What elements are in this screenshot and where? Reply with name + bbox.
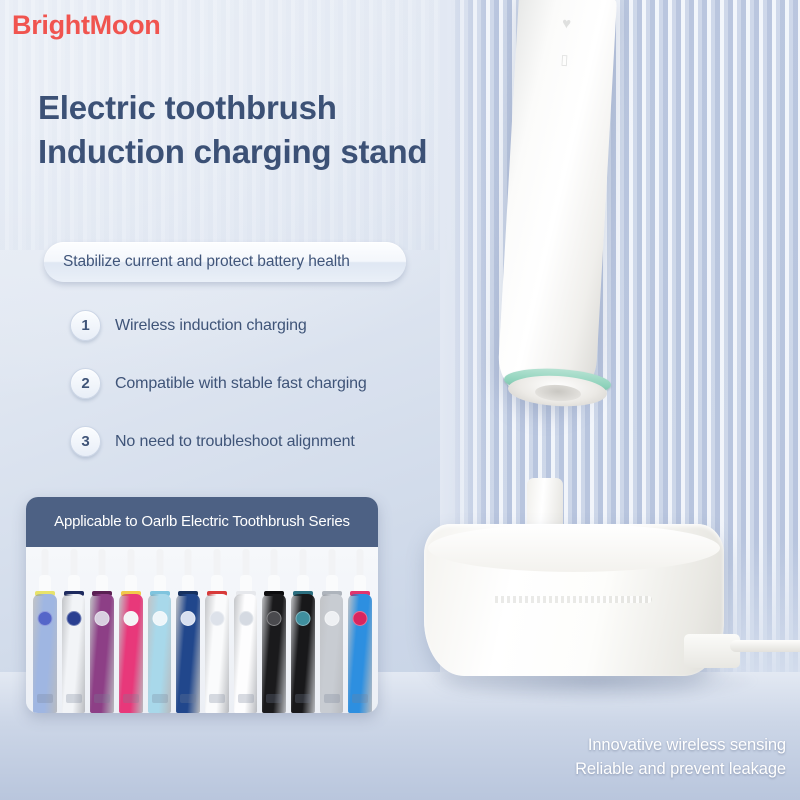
headline-line-1: Electric toothbrush — [38, 89, 337, 126]
headline-line-2: Induction charging stand — [38, 133, 427, 170]
brush-brand-mark — [238, 694, 254, 703]
brush-power-button — [324, 611, 339, 626]
brush-brand-mark — [94, 694, 110, 703]
heart-icon: ♥ — [562, 16, 572, 31]
gallery-white-navy-brush — [61, 549, 87, 713]
page-title: Electric toothbrush Induction charging s… — [38, 86, 427, 174]
feature-item-3: 3 No need to troubleshoot alignment — [70, 426, 355, 457]
brush-brand-mark — [180, 694, 196, 703]
tagline-line-2: Reliable and prevent leakage — [575, 760, 786, 778]
brush-power-button — [209, 611, 224, 626]
brush-power-button — [181, 611, 196, 626]
brand-logo: BrightMoon — [12, 10, 160, 41]
footer-tagline: Innovative wireless sensing Reliable and… — [575, 734, 786, 782]
brush-power-button — [66, 611, 81, 626]
advertisement-canvas: BrightMoon Electric toothbrush Induction… — [0, 0, 800, 800]
feature-label-2: Compatible with stable fast charging — [115, 375, 367, 393]
brush-brand-mark — [324, 694, 340, 703]
toothbrush-handle: ♥ ▯ — [496, 0, 617, 406]
brush-brand-mark — [266, 694, 282, 703]
brush-power-button — [152, 611, 167, 626]
compatibility-panel-title: Applicable to Oarlb Electric Toothbrush … — [44, 513, 360, 531]
brush-brand-mark — [123, 694, 139, 703]
gallery-navy-brush — [175, 549, 201, 713]
charging-stand-top — [428, 524, 720, 572]
compatibility-panel-header: Applicable to Oarlb Electric Toothbrush … — [26, 497, 378, 547]
battery-icon: ▯ — [560, 52, 568, 66]
feature-badge-1: 1 — [70, 310, 101, 341]
feature-label-3: No need to troubleshoot alignment — [115, 433, 355, 451]
gallery-blue-pink-brush — [347, 549, 373, 713]
brush-power-button — [123, 611, 138, 626]
gallery-light-cyan-brush — [147, 549, 173, 713]
brush-brand-mark — [295, 694, 311, 703]
gallery-black-brush — [261, 549, 287, 713]
brush-power-button — [238, 611, 253, 626]
brush-brand-mark — [37, 694, 53, 703]
feature-item-2: 2 Compatible with stable fast charging — [70, 368, 367, 399]
brush-power-button — [267, 611, 282, 626]
benefit-banner: Stabilize current and protect battery he… — [44, 242, 406, 282]
gallery-light-blue-brush — [32, 549, 58, 713]
feature-badge-2: 2 — [70, 368, 101, 399]
brush-power-button — [95, 611, 110, 626]
benefit-banner-text: Stabilize current and protect battery he… — [44, 253, 350, 271]
gallery-pink-brush — [118, 549, 144, 713]
toothbrush-gallery — [26, 547, 378, 713]
feature-badge-3: 3 — [70, 426, 101, 457]
brush-power-button — [353, 611, 368, 626]
brush-brand-mark — [209, 694, 225, 703]
brush-brand-mark — [352, 694, 368, 703]
brush-brand-mark — [66, 694, 82, 703]
charging-stand-vents — [492, 596, 652, 603]
cable-connector — [684, 634, 740, 668]
feature-label-1: Wireless induction charging — [115, 317, 307, 335]
gallery-silver-brush — [319, 549, 345, 713]
tagline-line-1: Innovative wireless sensing — [588, 736, 786, 754]
gallery-purple-brush — [89, 549, 115, 713]
gallery-black-teal-brush — [290, 549, 316, 713]
power-cable — [730, 640, 800, 652]
gallery-white-grey-brush — [233, 549, 259, 713]
feature-item-1: 1 Wireless induction charging — [70, 310, 307, 341]
brush-brand-mark — [152, 694, 168, 703]
brush-power-button — [295, 611, 310, 626]
brush-power-button — [37, 611, 52, 626]
compatibility-panel: Applicable to Oarlb Electric Toothbrush … — [26, 497, 378, 713]
gallery-white-red-brush — [204, 549, 230, 713]
